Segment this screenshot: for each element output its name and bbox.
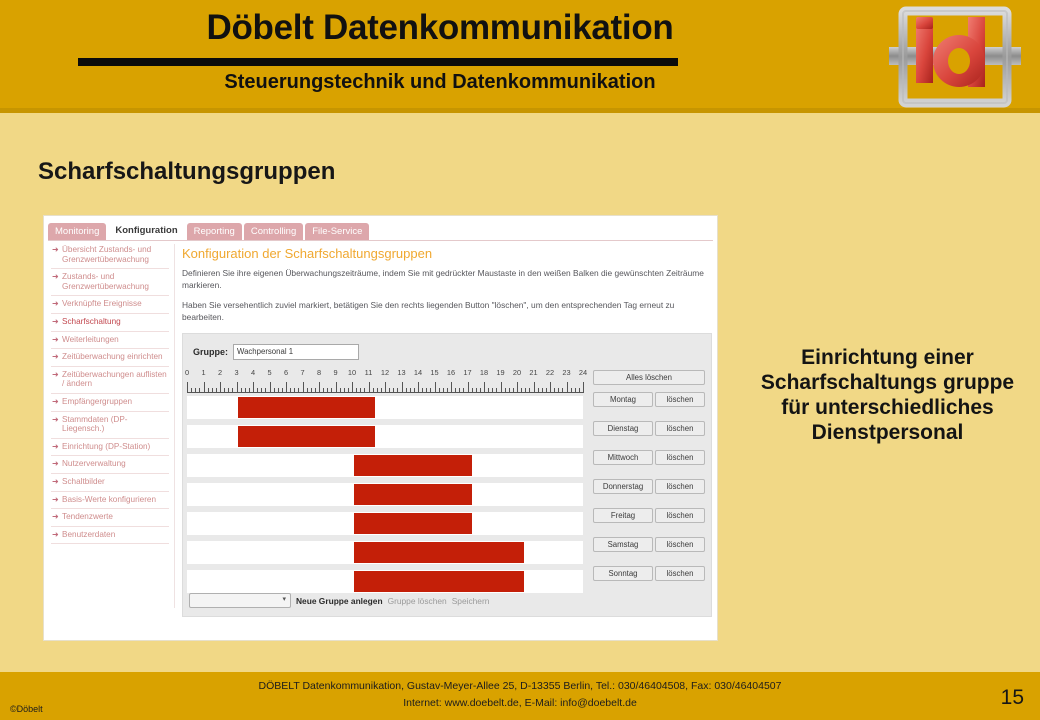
ruler-tick <box>257 388 258 393</box>
hour-label: 0 <box>185 368 189 377</box>
footer-address: DÖBELT Datenkommunikation, Gustav-Meyer-… <box>0 680 1040 692</box>
day-button-row: Sonntaglöschen <box>593 566 703 579</box>
page-title: Scharfschaltungsgruppen <box>38 158 335 186</box>
ruler-tick <box>212 388 213 393</box>
ruler-tick <box>579 388 580 393</box>
sidebar-item-label: Stammdaten (DP-Liegensch.) <box>62 415 128 434</box>
day-button-dienstag[interactable]: Dienstag <box>593 421 653 436</box>
sidebar-separator <box>51 313 169 314</box>
panel-toolbar: ▾ Neue Gruppe anlegen Gruppe löschen Spe… <box>189 593 489 608</box>
ruler-tick <box>385 382 386 393</box>
day-bar-fill[interactable] <box>354 455 473 476</box>
group-row: Gruppe: Wachpersonal 1 <box>193 344 359 360</box>
hour-label: 21 <box>529 368 537 377</box>
sidebar-separator <box>51 366 169 367</box>
ruler-tick <box>224 388 225 393</box>
ruler-tick <box>496 388 497 393</box>
footer-copyright: ©Döbelt <box>10 704 43 714</box>
sidebar-item-schaltbilder[interactable]: ➜Schaltbilder <box>50 476 170 488</box>
ruler-tick <box>418 382 419 393</box>
sidebar-separator <box>51 393 169 394</box>
page-number: 15 <box>1001 686 1024 710</box>
day-bar-row <box>187 570 585 593</box>
day-bar-track[interactable] <box>187 541 583 564</box>
ruler-tick <box>228 388 229 393</box>
ruler-tick <box>348 388 349 393</box>
day-button-sonntag[interactable]: Sonntag <box>593 566 653 581</box>
ruler-tick <box>253 382 254 393</box>
ruler-tick <box>298 388 299 393</box>
ruler-tick <box>414 388 415 393</box>
ruler-tick <box>509 388 510 393</box>
hour-label: 14 <box>414 368 422 377</box>
day-button-row: Samstaglöschen <box>593 537 703 550</box>
ruler-tick <box>282 388 283 393</box>
arrow-icon: ➜ <box>52 397 59 407</box>
ruler-tick <box>265 388 266 393</box>
ruler-tick <box>480 388 481 393</box>
ruler-tick <box>463 388 464 393</box>
day-bar-track[interactable] <box>187 570 583 593</box>
ruler-tick <box>430 388 431 393</box>
delete-button-mittwoch[interactable]: löschen <box>655 450 705 465</box>
day-bar-track[interactable] <box>187 425 583 448</box>
hour-label: 19 <box>496 368 504 377</box>
ruler-tick <box>439 388 440 393</box>
sidebar-item-scharfschaltung[interactable]: ➜Scharfschaltung <box>50 316 170 328</box>
hour-label: 9 <box>333 368 337 377</box>
tabbar-divider <box>48 240 713 241</box>
group-label: Gruppe: <box>193 347 228 357</box>
ruler-tick <box>323 388 324 393</box>
arrow-icon: ➜ <box>52 512 59 522</box>
ruler-tick <box>336 382 337 393</box>
hour-ruler: 0123456789101112131415161718192021222324 <box>187 368 585 394</box>
sidebar-item-zeit-berwachungen-auflisten-nd[interactable]: ➜Zeitüberwachungen auflisten / ändern <box>50 369 170 390</box>
ruler-tick <box>216 388 217 393</box>
hour-label: 12 <box>381 368 389 377</box>
sidebar-separator <box>51 543 169 544</box>
sidebar-separator <box>51 526 169 527</box>
ruler-tick <box>472 388 473 393</box>
instruction-paragraph-1: Definieren Sie ihre eigenen Überwachungs… <box>182 268 710 291</box>
day-bars <box>187 396 585 599</box>
day-button-montag[interactable]: Montag <box>593 392 653 407</box>
sidebar-item-label: Einrichtung (DP-Station) <box>62 442 150 451</box>
ruler-tick <box>488 388 489 393</box>
day-bar-fill[interactable] <box>354 513 473 534</box>
delete-button-donnerstag[interactable]: löschen <box>655 479 705 494</box>
ruler-tick <box>220 382 221 393</box>
ruler-tick <box>377 388 378 393</box>
day-bar-row <box>187 454 585 477</box>
day-bar-fill[interactable] <box>354 484 473 505</box>
sidebar-item-einrichtung-dp-station-[interactable]: ➜Einrichtung (DP-Station) <box>50 441 170 453</box>
tab-konfiguration[interactable]: Konfiguration <box>108 221 184 240</box>
ruler-tick <box>451 382 452 393</box>
sidebar-separator <box>51 508 169 509</box>
ruler-tick <box>422 388 423 393</box>
instruction-paragraph-2: Haben Sie versehentlich zuviel markiert,… <box>182 300 710 323</box>
ruler-tick <box>195 388 196 393</box>
ruler-tick <box>476 388 477 393</box>
day-bar-track[interactable] <box>187 396 583 419</box>
ruler-tick <box>356 388 357 393</box>
arrow-icon: ➜ <box>52 317 59 327</box>
day-bar-row <box>187 425 585 448</box>
company-title: Döbelt Datenkommunikation <box>0 8 880 48</box>
tab-file-service[interactable]: File-Service <box>305 223 369 240</box>
hour-label: 11 <box>365 368 373 377</box>
hour-ruler-labels: 0123456789101112131415161718192021222324 <box>187 368 585 379</box>
ruler-tick <box>261 388 262 393</box>
arrow-icon: ➜ <box>52 335 59 345</box>
day-bar-track[interactable] <box>187 454 583 477</box>
ruler-tick <box>575 388 576 393</box>
delete-group-button[interactable]: Gruppe löschen <box>388 596 447 606</box>
app-content: Konfiguration der Scharfschaltungsgruppe… <box>182 246 710 332</box>
hour-label: 6 <box>284 368 288 377</box>
sidebar-item-label: Nutzerverwaltung <box>62 459 126 468</box>
sidebar-item-label: Zeitüberwachung einrichten <box>62 352 163 361</box>
ruler-tick <box>286 382 287 393</box>
ruler-tick <box>583 382 584 393</box>
hour-label: 4 <box>251 368 255 377</box>
ruler-tick <box>435 382 436 393</box>
ruler-tick <box>558 388 559 393</box>
arrow-icon: ➜ <box>52 415 59 425</box>
sidebar-item-label: Empfängergruppen <box>62 397 132 406</box>
day-button-donnerstag[interactable]: Donnerstag <box>593 479 653 494</box>
sidebar-separator <box>51 491 169 492</box>
ruler-tick <box>406 388 407 393</box>
arrow-icon: ➜ <box>52 272 59 282</box>
ruler-tick <box>245 388 246 393</box>
ruler-tick <box>468 382 469 393</box>
ruler-tick <box>402 382 403 393</box>
sidebar-item-label: Scharfschaltung <box>62 317 121 326</box>
ruler-tick <box>501 382 502 393</box>
arrow-icon: ➜ <box>52 245 59 255</box>
sidebar-separator <box>51 473 169 474</box>
sidebar-separator <box>51 438 169 439</box>
ruler-tick <box>340 388 341 393</box>
hour-label: 7 <box>300 368 304 377</box>
hour-label: 20 <box>513 368 521 377</box>
ruler-tick <box>311 388 312 393</box>
day-bar-row <box>187 512 585 535</box>
slide-footer: DÖBELT Datenkommunikation, Gustav-Meyer-… <box>0 672 1040 720</box>
ruler-tick <box>484 382 485 393</box>
hour-label: 16 <box>447 368 455 377</box>
ruler-tick <box>199 388 200 393</box>
clear-all-button[interactable]: Alles löschen <box>593 370 705 385</box>
ruler-tick <box>447 388 448 393</box>
ruler-tick <box>294 388 295 393</box>
sidebar-item-label: Übersicht Zustands- und Grenzwertüberwac… <box>62 245 151 264</box>
chevron-down-icon: ▾ <box>282 595 286 603</box>
sidebar-item-weiterleitungen[interactable]: ➜Weiterleitungen <box>50 334 170 346</box>
slide-header: Döbelt Datenkommunikation Steuerungstech… <box>0 0 1040 113</box>
delete-button-sonntag[interactable]: löschen <box>655 566 705 581</box>
hour-label: 10 <box>348 368 356 377</box>
day-button-row: Donnerstaglöschen <box>593 479 703 492</box>
ruler-tick <box>517 382 518 393</box>
sidebar-item-empf-ngergruppen[interactable]: ➜Empfängergruppen <box>50 396 170 408</box>
ruler-tick <box>208 388 209 393</box>
hour-label: 17 <box>463 368 471 377</box>
hour-label: 18 <box>480 368 488 377</box>
arrow-icon: ➜ <box>52 352 59 362</box>
ruler-tick <box>204 382 205 393</box>
hour-ruler-ticks <box>187 380 583 393</box>
day-button-row: Montaglöschen <box>593 392 703 405</box>
day-bar-fill[interactable] <box>238 397 375 418</box>
ruler-tick <box>249 388 250 393</box>
ruler-tick <box>443 388 444 393</box>
ruler-tick <box>529 388 530 393</box>
ruler-tick <box>538 388 539 393</box>
sidebar-item-label: Zeitüberwachungen auflisten / ändern <box>62 370 167 389</box>
save-button[interactable]: Speichern <box>452 596 490 606</box>
day-button-row: Dienstaglöschen <box>593 421 703 434</box>
ruler-tick <box>562 388 563 393</box>
sidebar-item-label: Schaltbilder <box>62 477 105 486</box>
app-sidebar: ➜Übersicht Zustands- und Grenzwertüberwa… <box>50 244 170 604</box>
ruler-tick <box>373 388 374 393</box>
schedule-panel: Gruppe: Wachpersonal 1 01234567891011121… <box>182 333 712 617</box>
company-subtitle: Steuerungstechnik und Datenkommunikation <box>0 71 880 94</box>
sidebar-item-stammdaten-dp-liegensch-[interactable]: ➜Stammdaten (DP-Liegensch.) <box>50 414 170 435</box>
ruler-tick <box>344 388 345 393</box>
ruler-tick <box>525 388 526 393</box>
sidebar-item--bersicht-zustands-und-grenzwe[interactable]: ➜Übersicht Zustands- und Grenzwertüberwa… <box>50 244 170 265</box>
ruler-tick <box>459 388 460 393</box>
day-button-mittwoch[interactable]: Mittwoch <box>593 450 653 465</box>
sidebar-item-zustands-und-grenzwert-berwach[interactable]: ➜Zustands- und Grenzwertüberwachung <box>50 271 170 292</box>
ruler-tick <box>381 388 382 393</box>
ruler-tick <box>360 388 361 393</box>
tab-controlling[interactable]: Controlling <box>244 223 303 240</box>
sidebar-item-label: Verknüpfte Ereignisse <box>62 299 142 308</box>
ruler-tick <box>550 382 551 393</box>
hour-label: 13 <box>397 368 405 377</box>
day-button-row: Freitaglöschen <box>593 508 703 521</box>
tab-reporting[interactable]: Reporting <box>187 223 242 240</box>
arrow-icon: ➜ <box>52 370 59 380</box>
sidebar-item-label: Tendenzwerte <box>62 512 113 521</box>
sidebar-item-label: Weiterleitungen <box>62 335 119 344</box>
sidebar-item-basis-werte-konfigurieren[interactable]: ➜Basis-Werte konfigurieren <box>50 494 170 506</box>
sidebar-separator <box>51 331 169 332</box>
hour-label: 1 <box>201 368 205 377</box>
day-button-freitag[interactable]: Freitag <box>593 508 653 523</box>
day-bar-row <box>187 541 585 564</box>
header-divider <box>78 58 678 66</box>
ruler-tick <box>389 388 390 393</box>
new-group-button[interactable]: Neue Gruppe anlegen <box>296 596 383 606</box>
sidebar-item-tendenzwerte[interactable]: ➜Tendenzwerte <box>50 511 170 523</box>
hour-label: 22 <box>546 368 554 377</box>
delete-button-freitag[interactable]: löschen <box>655 508 705 523</box>
sidebar-separator <box>51 348 169 349</box>
hour-label: 3 <box>234 368 238 377</box>
sidebar-separator <box>51 455 169 456</box>
day-bar-track[interactable] <box>187 512 583 535</box>
footer-contact: Internet: www.doebelt.de, E-Mail: info@d… <box>0 697 1040 709</box>
day-bar-track[interactable] <box>187 483 583 506</box>
sidebar-separator <box>51 268 169 269</box>
delete-button-dienstag[interactable]: löschen <box>655 421 705 436</box>
header-bottom-band <box>0 108 1040 113</box>
ruler-tick <box>327 388 328 393</box>
app-tabbar: MonitoringKonfigurationReportingControll… <box>48 221 369 240</box>
arrow-icon: ➜ <box>52 530 59 540</box>
ruler-tick <box>187 382 188 393</box>
ruler-tick <box>513 388 514 393</box>
tab-monitoring[interactable]: Monitoring <box>48 223 106 240</box>
hour-label: 2 <box>218 368 222 377</box>
ruler-tick <box>270 382 271 393</box>
content-heading: Konfiguration der Scharfschaltungsgruppe… <box>182 246 710 261</box>
ruler-tick <box>237 382 238 393</box>
ruler-tick <box>410 388 411 393</box>
delete-button-montag[interactable]: löschen <box>655 392 705 407</box>
ruler-tick <box>274 388 275 393</box>
ruler-tick <box>521 388 522 393</box>
ruler-tick <box>319 382 320 393</box>
group-select[interactable]: ▾ <box>189 593 291 608</box>
ruler-tick <box>241 388 242 393</box>
ruler-tick <box>554 388 555 393</box>
hour-label: 23 <box>562 368 570 377</box>
ruler-tick <box>571 388 572 393</box>
sidebar-item-label: Basis-Werte konfigurieren <box>62 495 156 504</box>
hour-label: 8 <box>317 368 321 377</box>
ruler-tick <box>393 388 394 393</box>
ruler-tick <box>191 388 192 393</box>
delete-button-samstag[interactable]: löschen <box>655 537 705 552</box>
arrow-icon: ➜ <box>52 459 59 469</box>
ruler-tick <box>369 382 370 393</box>
arrow-icon: ➜ <box>52 495 59 505</box>
ruler-tick <box>542 388 543 393</box>
hour-label: 24 <box>579 368 587 377</box>
ruler-tick <box>364 388 365 393</box>
day-button-samstag[interactable]: Samstag <box>593 537 653 552</box>
day-bar-fill[interactable] <box>354 542 524 563</box>
arrow-icon: ➜ <box>52 442 59 452</box>
sidebar-separator <box>51 295 169 296</box>
hour-label: 15 <box>430 368 438 377</box>
sidebar-item-label: Benutzerdaten <box>62 530 115 539</box>
sidebar-separator <box>51 411 169 412</box>
ruler-tick <box>492 388 493 393</box>
hour-label: 5 <box>267 368 271 377</box>
slide-caption: Einrichtung einer Scharfschaltungs grupp… <box>745 345 1030 445</box>
arrow-icon: ➜ <box>52 477 59 487</box>
day-bar-fill[interactable] <box>238 426 375 447</box>
ruler-tick <box>278 388 279 393</box>
sidebar-divider <box>174 244 175 608</box>
day-bar-row <box>187 396 585 419</box>
sidebar-item-label: Zustands- und Grenzwertüberwachung <box>62 272 149 291</box>
ruler-tick <box>426 388 427 393</box>
ruler-tick <box>534 382 535 393</box>
ruler-tick <box>546 388 547 393</box>
header-text-block: Döbelt Datenkommunikation Steuerungstech… <box>0 0 880 113</box>
ruler-tick <box>232 388 233 393</box>
sidebar-item-zeit-berwachung-einrichten[interactable]: ➜Zeitüberwachung einrichten <box>50 351 170 363</box>
day-button-row: Mittwochlöschen <box>593 450 703 463</box>
sidebar-item-nutzerverwaltung[interactable]: ➜Nutzerverwaltung <box>50 458 170 470</box>
ruler-tick <box>567 382 568 393</box>
ruler-tick <box>303 382 304 393</box>
ruler-tick <box>352 382 353 393</box>
day-bar-fill[interactable] <box>354 571 524 592</box>
app-screenshot: MonitoringKonfigurationReportingControll… <box>44 216 717 640</box>
ruler-tick <box>315 388 316 393</box>
sidebar-item-benutzerdaten[interactable]: ➜Benutzerdaten <box>50 529 170 541</box>
ruler-tick <box>397 388 398 393</box>
ruler-tick <box>290 388 291 393</box>
id-logo-icon <box>889 3 1021 111</box>
day-bar-row <box>187 483 585 506</box>
ruler-tick <box>505 388 506 393</box>
arrow-icon: ➜ <box>52 299 59 309</box>
sidebar-item-verkn-pfte-ereignisse[interactable]: ➜Verknüpfte Ereignisse <box>50 298 170 310</box>
ruler-tick <box>307 388 308 393</box>
ruler-tick <box>455 388 456 393</box>
slide: Döbelt Datenkommunikation Steuerungstech… <box>0 0 1040 720</box>
ruler-tick <box>331 388 332 393</box>
group-name-input[interactable]: Wachpersonal 1 <box>233 344 359 360</box>
